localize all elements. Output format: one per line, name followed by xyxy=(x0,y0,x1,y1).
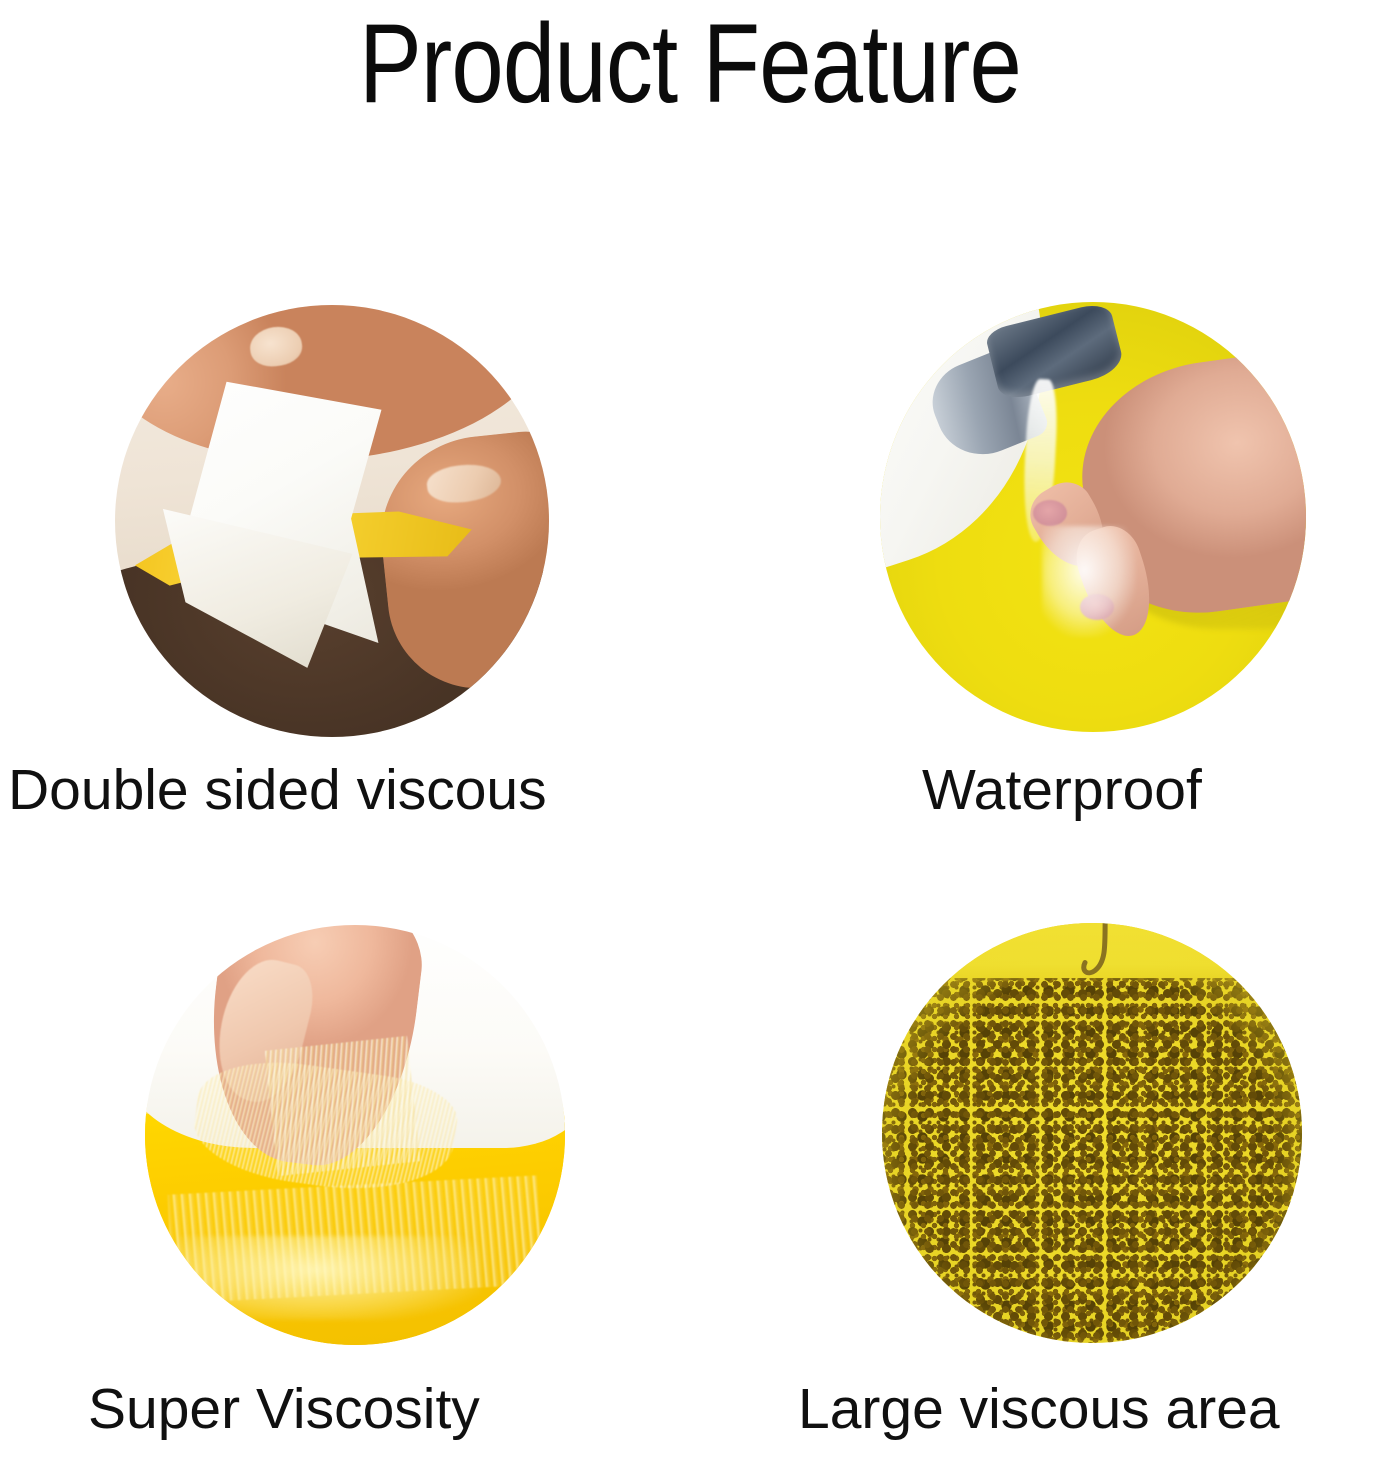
faucet-water-photo xyxy=(880,302,1306,732)
feature-item-double-sided-viscous: Double sided viscous xyxy=(0,280,690,840)
feature-grid: Double sided viscous Waterproof xyxy=(0,280,1380,1465)
feature-caption-double-sided-viscous: Double sided viscous xyxy=(8,758,547,822)
insect-covered-trap-photo xyxy=(882,923,1302,1343)
feature-item-large-viscous-area: Large viscous area xyxy=(690,905,1380,1465)
feature-caption-large-viscous-area: Large viscous area xyxy=(798,1377,1280,1441)
page-title: Product Feature xyxy=(110,0,1269,128)
peel-backing-photo xyxy=(115,305,549,737)
feature-item-super-viscosity: Super Viscosity xyxy=(0,905,690,1465)
feature-item-waterproof: Waterproof xyxy=(690,280,1380,840)
feature-caption-waterproof: Waterproof xyxy=(922,758,1202,822)
wire-hook-icon xyxy=(1075,923,1121,990)
feature-caption-super-viscosity: Super Viscosity xyxy=(88,1377,480,1441)
glue-strands-photo xyxy=(145,925,565,1345)
